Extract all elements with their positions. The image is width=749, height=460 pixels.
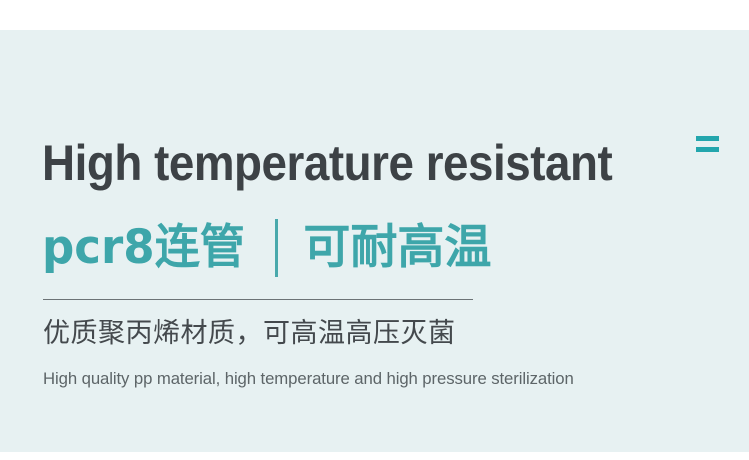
equals-mark-icon xyxy=(696,136,719,153)
subtitle-english: High quality pp material, high temperatu… xyxy=(43,368,574,390)
horizontal-divider xyxy=(43,299,473,300)
equals-mark-bar-top xyxy=(696,136,719,141)
headline-chinese-row: pcr8连管 可耐高温 xyxy=(42,216,491,280)
equals-mark-bar-bottom xyxy=(696,147,719,152)
subtitle-chinese: 优质聚丙烯材质，可高温高压灭菌 xyxy=(43,316,456,352)
headline-english: High temperature resistant xyxy=(42,133,646,195)
headline-chinese-product: pcr8连管 xyxy=(42,220,245,276)
vertical-divider xyxy=(275,219,278,277)
product-banner: High temperature resistant pcr8连管 可耐高温 优… xyxy=(0,0,749,460)
headline-chinese-feature: 可耐高温 xyxy=(303,220,491,276)
